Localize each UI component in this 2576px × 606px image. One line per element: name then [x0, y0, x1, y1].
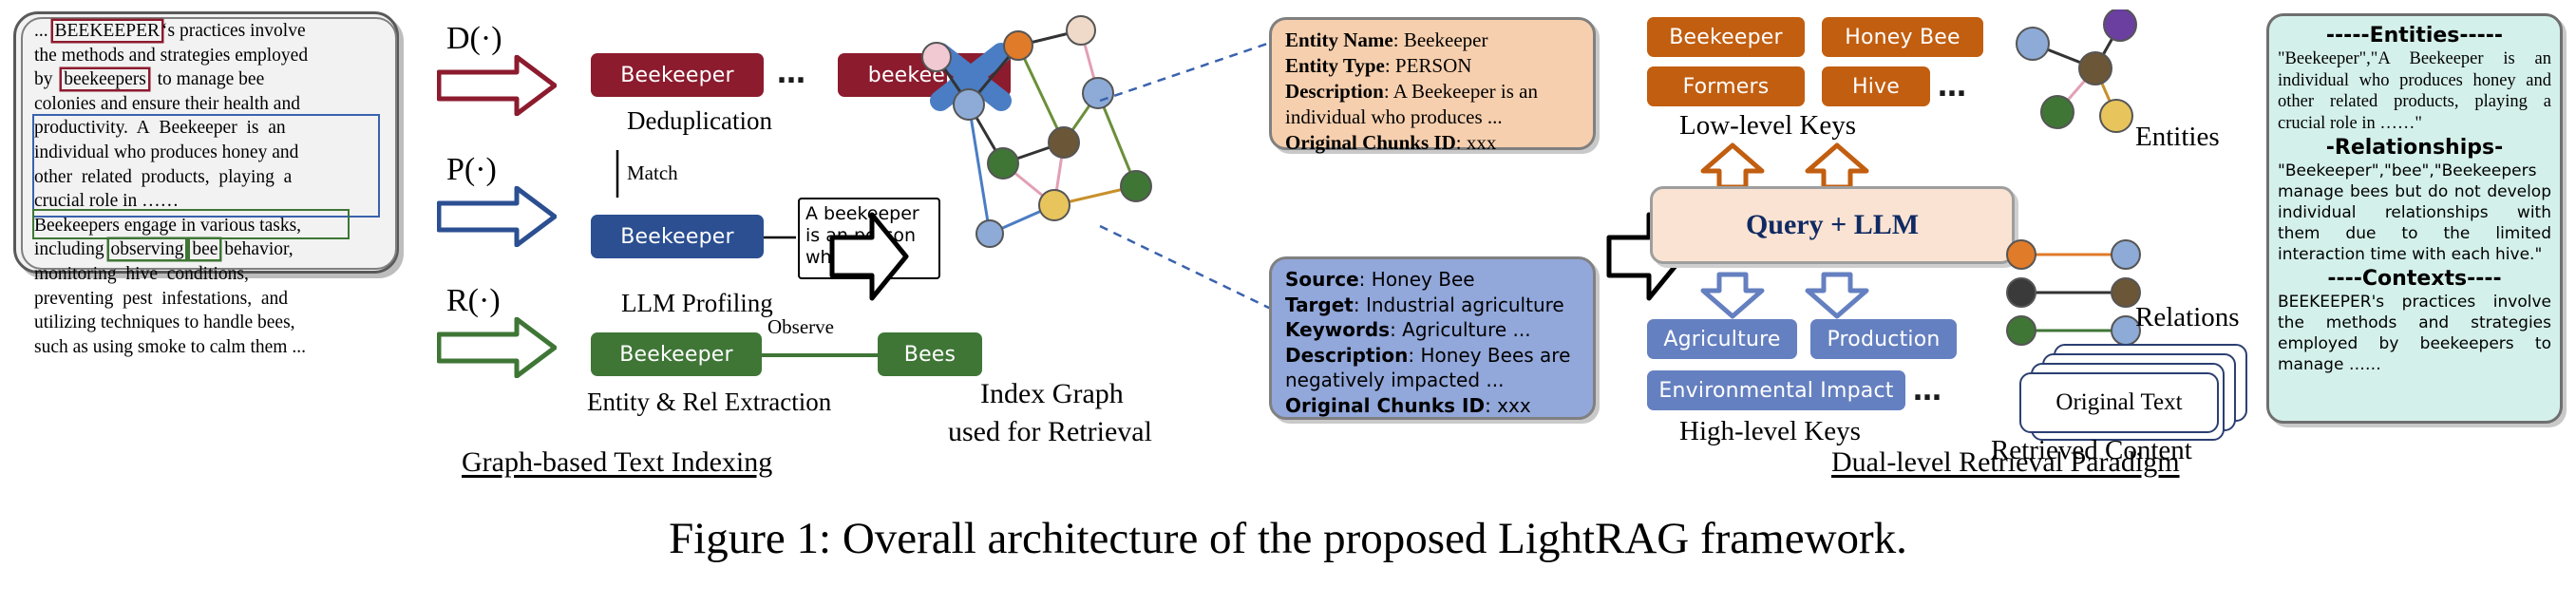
match-label: Match	[627, 161, 678, 185]
extraction-edge-label: Observe	[767, 315, 834, 339]
entity-chunks-row: Original Chunks ID: xxx	[1285, 130, 1580, 156]
entity-info-card: Entity Name: Beekeeper Entity Type: PERS…	[1269, 17, 1596, 150]
highlight-beekeepers: beekeepers	[62, 69, 148, 89]
extraction-source-chip[interactable]: Beekeeper	[591, 332, 762, 376]
pipeline-arrow-icon-1	[828, 211, 910, 307]
entity-callout-line	[1092, 34, 1282, 110]
dedup-ellipsis: …	[777, 57, 808, 90]
relation-target-row: Target: Industrial agriculture	[1285, 293, 1580, 318]
entity-description-label: Description	[1285, 80, 1384, 103]
relation-source-label: Source	[1285, 268, 1359, 291]
entity-description-row: Description: A Beekeeper is an individua…	[1285, 79, 1580, 130]
dedup-caption: Deduplication	[627, 106, 772, 136]
extraction-edge	[760, 344, 880, 367]
profiling-chip[interactable]: Beekeeper	[591, 215, 764, 258]
high-level-keys-title: High-level Keys	[1679, 416, 1861, 447]
extraction-target-chip[interactable]: Bees	[878, 332, 982, 376]
high-level-key-chip-1[interactable]: Production	[1810, 319, 1957, 359]
entity-name-label: Entity Name	[1285, 28, 1393, 51]
entities-section-header: -----Entities-----	[2278, 24, 2551, 47]
relations-label: Relations	[2135, 302, 2240, 333]
relationships-section-body: "Beekeeper","bee","Beekeepers manage bee…	[2278, 161, 2551, 265]
relation-keywords-label: Keywords	[1285, 318, 1390, 341]
query-llm-label: Query + LLM	[1746, 209, 1919, 241]
original-text-label: Original Text	[2055, 389, 2182, 416]
dual-level-stage-label: Dual-level Retrieval Paradigm	[1831, 446, 2180, 479]
relation-info-card: Source: Honey Bee Target: Industrial agr…	[1269, 256, 1596, 420]
highlight-beekeeper-upper: BEEKEEPER	[53, 21, 162, 41]
index-graph-label-line1: Index Graph	[980, 378, 1124, 410]
low-level-key-chip-2[interactable]: Formers	[1647, 66, 1805, 106]
high-level-down-arrow-icon-1	[1700, 272, 1765, 324]
entity-chunks-label: Original Chunks ID	[1285, 131, 1456, 154]
retrieved-relations-list	[2006, 237, 2225, 351]
dedup-arrow-icon	[437, 55, 557, 116]
original-text-card[interactable]: Original Text	[2019, 372, 2219, 433]
profiling-arrow-icon	[437, 186, 557, 247]
high-level-keys-ellipsis: …	[1913, 374, 1944, 407]
entity-name-row: Entity Name: Beekeeper	[1285, 28, 1580, 53]
figure-canvas: ... BEEKEEPER‘s practices involve the me…	[0, 0, 2576, 606]
relation-source-row: Source: Honey Bee	[1285, 267, 1580, 293]
relation-target-label: Target	[1285, 294, 1354, 316]
entities-section-body: "Beekeeper","A Beekeeper is an individua…	[2278, 48, 2551, 134]
profiling-connector	[764, 228, 798, 247]
entities-label: Entities	[2135, 122, 2220, 153]
contexts-section-body: BEEKEEPER's practices involve the method…	[2278, 292, 2551, 375]
dedup-operator-symbol: D(·)	[446, 21, 502, 57]
low-level-key-chip-0[interactable]: Beekeeper	[1647, 17, 1805, 57]
high-level-key-chip-0[interactable]: Agriculture	[1647, 319, 1797, 359]
retrieved-entities-graph	[2004, 9, 2242, 228]
figure-caption: Figure 1: Overall architecture of the pr…	[0, 513, 2576, 564]
retrieved-context-card: -----Entities----- "Beekeeper","A Beekee…	[2266, 13, 2563, 424]
relation-chunks-value: xxx	[1497, 394, 1531, 417]
profiling-operator-symbol: P(·)	[446, 152, 497, 188]
contexts-section-header: ----Contexts----	[2278, 267, 2551, 291]
high-level-down-arrow-icon-2	[1805, 272, 1869, 324]
entity-type-value: PERSON	[1395, 54, 1472, 77]
low-level-keys-title: Low-level Keys	[1679, 110, 1856, 142]
high-level-key-chip-2[interactable]: Environmental Impact	[1647, 370, 1905, 410]
relation-callout-line	[1092, 218, 1282, 323]
relation-source-value: Honey Bee	[1372, 268, 1475, 291]
indexing-stage-label: Graph-based Text Indexing	[462, 446, 772, 479]
extraction-caption: Entity & Rel Extraction	[587, 388, 831, 417]
dedup-chip-primary[interactable]: Beekeeper	[591, 53, 764, 97]
entity-type-label: Entity Type	[1285, 54, 1385, 77]
relation-target-value: Industrial agriculture	[1366, 294, 1564, 316]
entity-type-row: Entity Type: PERSON	[1285, 53, 1580, 79]
relation-description-row: Description: Honey Bees are negatively i…	[1285, 343, 1580, 393]
relation-keywords-value: Agriculture ...	[1402, 318, 1530, 341]
relation-chunks-row: Original Chunks ID: xxx	[1285, 393, 1580, 419]
query-llm-box[interactable]: Query + LLM	[1650, 186, 2015, 264]
doc-line-1: ...	[34, 21, 53, 41]
entity-chunks-value: xxx	[1467, 131, 1497, 154]
index-graph-label-line2: used for Retrieval	[948, 416, 1152, 448]
low-level-keys-ellipsis: …	[1938, 70, 1969, 104]
extraction-arrow-icon	[437, 317, 557, 378]
source-document-text: ... BEEKEEPER‘s practices involve the me…	[34, 19, 388, 264]
relation-description-label: Description	[1285, 344, 1408, 367]
relationships-section-header: -Relationships-	[2278, 136, 2551, 160]
relation-keywords-row: Keywords: Agriculture ...	[1285, 317, 1580, 343]
entity-name-value: Beekeeper	[1404, 28, 1488, 51]
highlight-observing: observing	[109, 239, 186, 259]
low-level-key-chip-1[interactable]: Honey Bee	[1822, 17, 1983, 57]
extraction-operator-symbol: R(·)	[446, 283, 501, 319]
profiling-caption: LLM Profiling	[621, 289, 773, 318]
highlight-bee: bee	[190, 239, 219, 259]
low-level-key-chip-3[interactable]: Hive	[1822, 66, 1930, 106]
relation-chunks-label: Original Chunks ID	[1285, 394, 1485, 417]
